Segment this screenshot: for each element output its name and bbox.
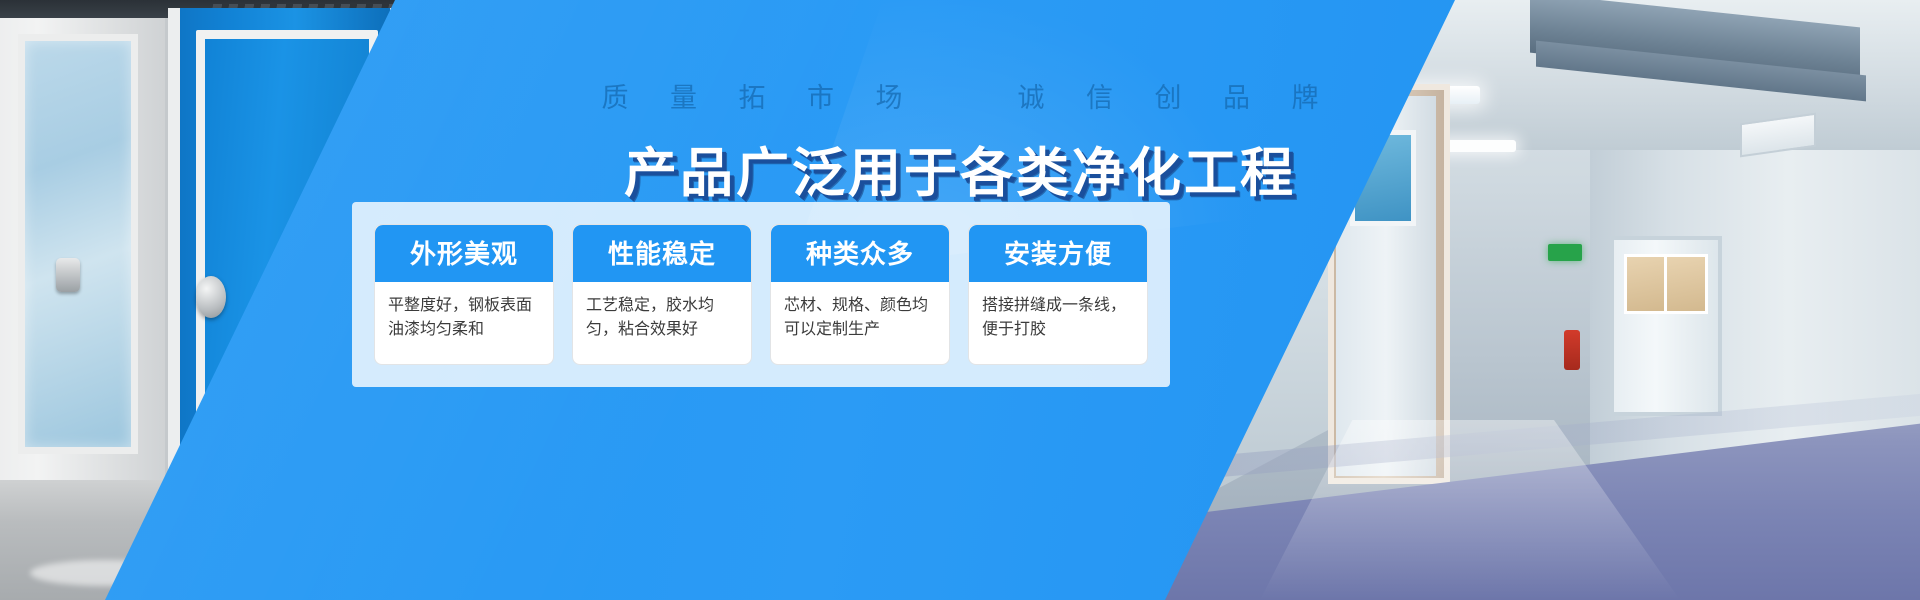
feature-card-title: 安装方便 [969, 225, 1147, 282]
banner-headline: 产品广泛用于各类净化工程 [624, 131, 1296, 207]
feature-card[interactable]: 性能稳定 工艺稳定，胶水均匀，粘合效果好 [572, 224, 752, 365]
feature-card[interactable]: 安装方便 搭接拼缝成一条线，便于打胶 [968, 224, 1148, 365]
feature-card[interactable]: 外形美观 平整度好，钢板表面油漆均匀柔和 [374, 224, 554, 365]
feature-card[interactable]: 种类众多 芯材、规格、颜色均可以定制生产 [770, 224, 950, 365]
feature-card-body: 工艺稳定，胶水均匀，粘合效果好 [573, 282, 751, 364]
banner-subtitle: 质 量 拓 市 场 诚 信 创 品 牌 [584, 76, 1335, 115]
feature-card-body: 芯材、规格、颜色均可以定制生产 [771, 282, 949, 364]
feature-card-title: 种类众多 [771, 225, 949, 282]
feature-card-title: 性能稳定 [573, 225, 751, 282]
feature-card-body: 平整度好，钢板表面油漆均匀柔和 [375, 282, 553, 364]
promo-banner: 质 量 拓 市 场 诚 信 创 品 牌 产品广泛用于各类净化工程 外形美观 平整… [0, 0, 1920, 600]
feature-card-body: 搭接拼缝成一条线，便于打胶 [969, 282, 1147, 364]
feature-card-title: 外形美观 [375, 225, 553, 282]
feature-cards-panel: 外形美观 平整度好，钢板表面油漆均匀柔和 性能稳定 工艺稳定，胶水均匀，粘合效果… [352, 202, 1170, 387]
